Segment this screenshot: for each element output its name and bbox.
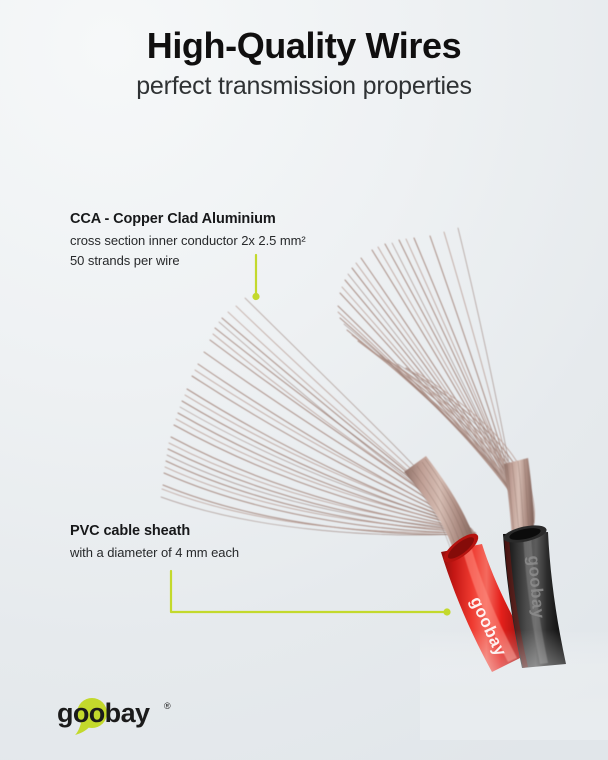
product-photo: goobay goobay <box>0 0 608 760</box>
leader-cca-dot <box>252 293 259 300</box>
logo-wordmark: goobay <box>57 698 150 728</box>
page-title: High-Quality Wires <box>0 26 608 66</box>
infographic-page: goobay goobay High-Quality Wires perfect… <box>0 0 608 760</box>
goobay-logo: goobay ® <box>55 694 179 736</box>
callout-pvc-title: PVC cable sheath <box>70 521 239 543</box>
leader-pvc-dot <box>443 608 450 615</box>
leader-line-pvc <box>155 565 465 625</box>
header: High-Quality Wires perfect transmission … <box>0 26 608 101</box>
leader-line-cca <box>240 250 280 310</box>
callout-cca-line1: cross section inner conductor 2x 2.5 mm² <box>70 231 306 251</box>
page-subtitle: perfect transmission properties <box>0 72 608 101</box>
logo-trademark: ® <box>164 701 171 711</box>
leader-pvc-stem <box>171 571 445 612</box>
wire-bundle-black <box>504 458 534 536</box>
callout-pvc: PVC cable sheath with a diameter of 4 mm… <box>70 521 239 563</box>
callout-cca-title: CCA - Copper Clad Aluminium <box>70 209 306 231</box>
callout-pvc-line1: with a diameter of 4 mm each <box>70 543 239 563</box>
